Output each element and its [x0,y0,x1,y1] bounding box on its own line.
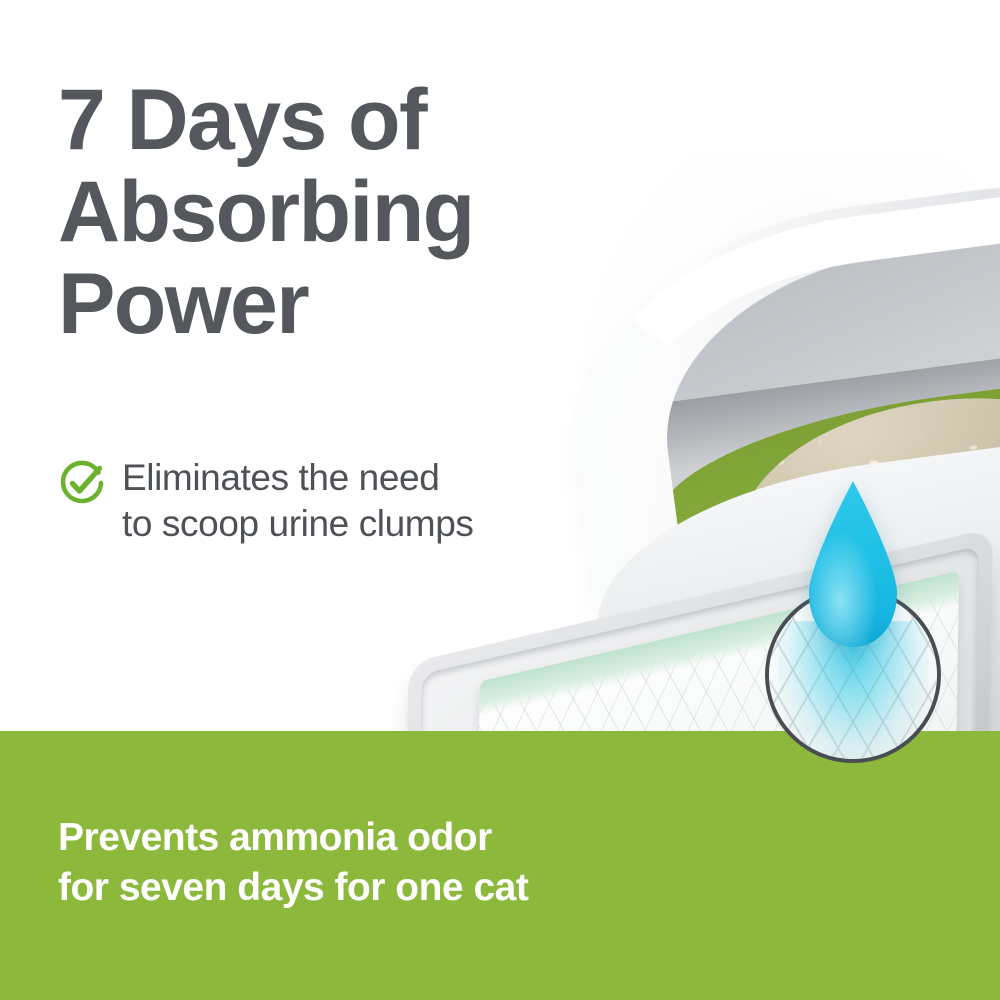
product-feature-image: 7 Days of Absorbing Power Eliminates the… [0,0,1000,1000]
bullet-line-2: to scoop urine clumps [122,501,474,547]
check-circle-icon [58,459,106,507]
banner-claim-text: Prevents ammonia odor for seven days for… [58,813,678,913]
bullet-line-1: Eliminates the need [122,455,474,501]
banner-line-1: Prevents ammonia odor [58,813,678,863]
water-droplet-icon [793,479,913,651]
feature-bullet-text: Eliminates the need to scoop urine clump… [122,455,474,548]
page-title: 7 Days of Absorbing Power [58,74,658,350]
headline-line-3: Power [58,258,658,350]
absorption-callout-badge [765,587,941,763]
headline-line-2: Absorbing [58,166,658,258]
headline-line-1: 7 Days of [58,74,658,166]
banner-line-2: for seven days for one cat [58,863,678,913]
feature-bullet: Eliminates the need to scoop urine clump… [58,455,638,548]
